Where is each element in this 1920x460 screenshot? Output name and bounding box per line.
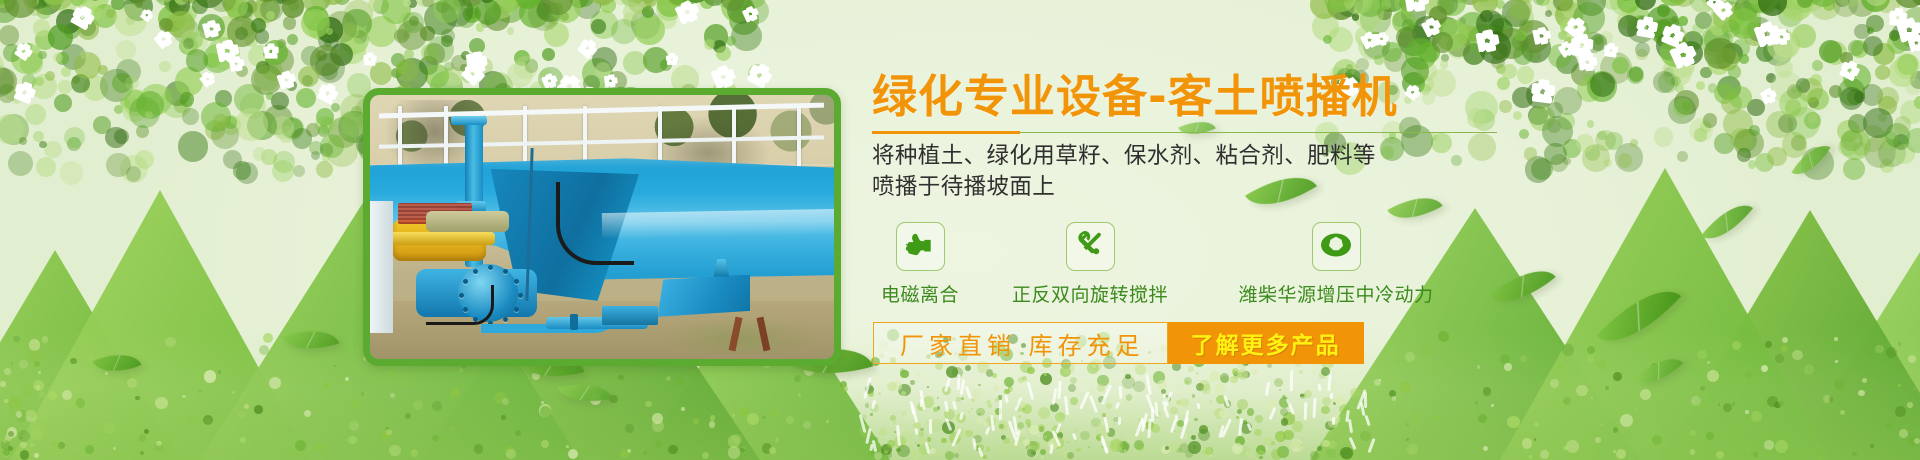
- promo-banner: 绿化专业设备-客土喷播机 将种植土、绿化用草籽、保水剂、粘合剂、肥料等 喷播于待…: [0, 0, 1920, 460]
- wrench-screwdriver-icon: [1075, 230, 1105, 264]
- feature-item-mixing[interactable]: 正反双向旋转搅拌: [985, 222, 1195, 307]
- learn-more-button-label: 了解更多产品: [1191, 326, 1341, 360]
- banner-title: 绿化专业设备-客土喷播机: [872, 72, 1632, 122]
- cta-slogan-box: 厂家直销 库存充足: [873, 322, 1168, 364]
- banner-subtitle-line2: 喷播于待播坡面上: [872, 172, 1632, 202]
- divider-dash: [872, 131, 1020, 134]
- feature-item-clutch[interactable]: 电磁离合: [872, 222, 968, 307]
- cta-slogan-text: 厂家直销 库存充足: [900, 326, 1145, 361]
- product-photo: [370, 95, 834, 359]
- banner-subtitle-line1: 将种植土、绿化用草籽、保水剂、粘合剂、肥料等: [872, 141, 1632, 171]
- feature-icon-box: [1312, 222, 1361, 271]
- feature-item-power[interactable]: 潍柴华源增压中冷动力: [1206, 222, 1466, 307]
- turbo-engine-icon: [1319, 232, 1353, 262]
- feature-icon-box: [896, 222, 945, 271]
- thumbs-up-icon: [905, 232, 935, 262]
- banner-content: 绿化专业设备-客土喷播机 将种植土、绿化用草籽、保水剂、粘合剂、肥料等 喷播于待…: [872, 72, 1632, 318]
- feature-label: 潍柴华源增压中冷动力: [1206, 280, 1466, 307]
- learn-more-button[interactable]: 了解更多产品: [1168, 322, 1364, 364]
- feature-label: 正反双向旋转搅拌: [985, 280, 1195, 307]
- feature-list: 电磁离合 正反双向旋转搅拌: [872, 222, 1572, 318]
- divider-rule: [1020, 132, 1497, 133]
- title-divider: [872, 131, 1497, 134]
- cta-bar: 厂家直销 库存充足 了解更多产品: [873, 322, 1364, 364]
- feature-label: 电磁离合: [872, 280, 968, 307]
- feature-icon-box: [1066, 222, 1115, 271]
- product-photo-frame[interactable]: [363, 88, 841, 366]
